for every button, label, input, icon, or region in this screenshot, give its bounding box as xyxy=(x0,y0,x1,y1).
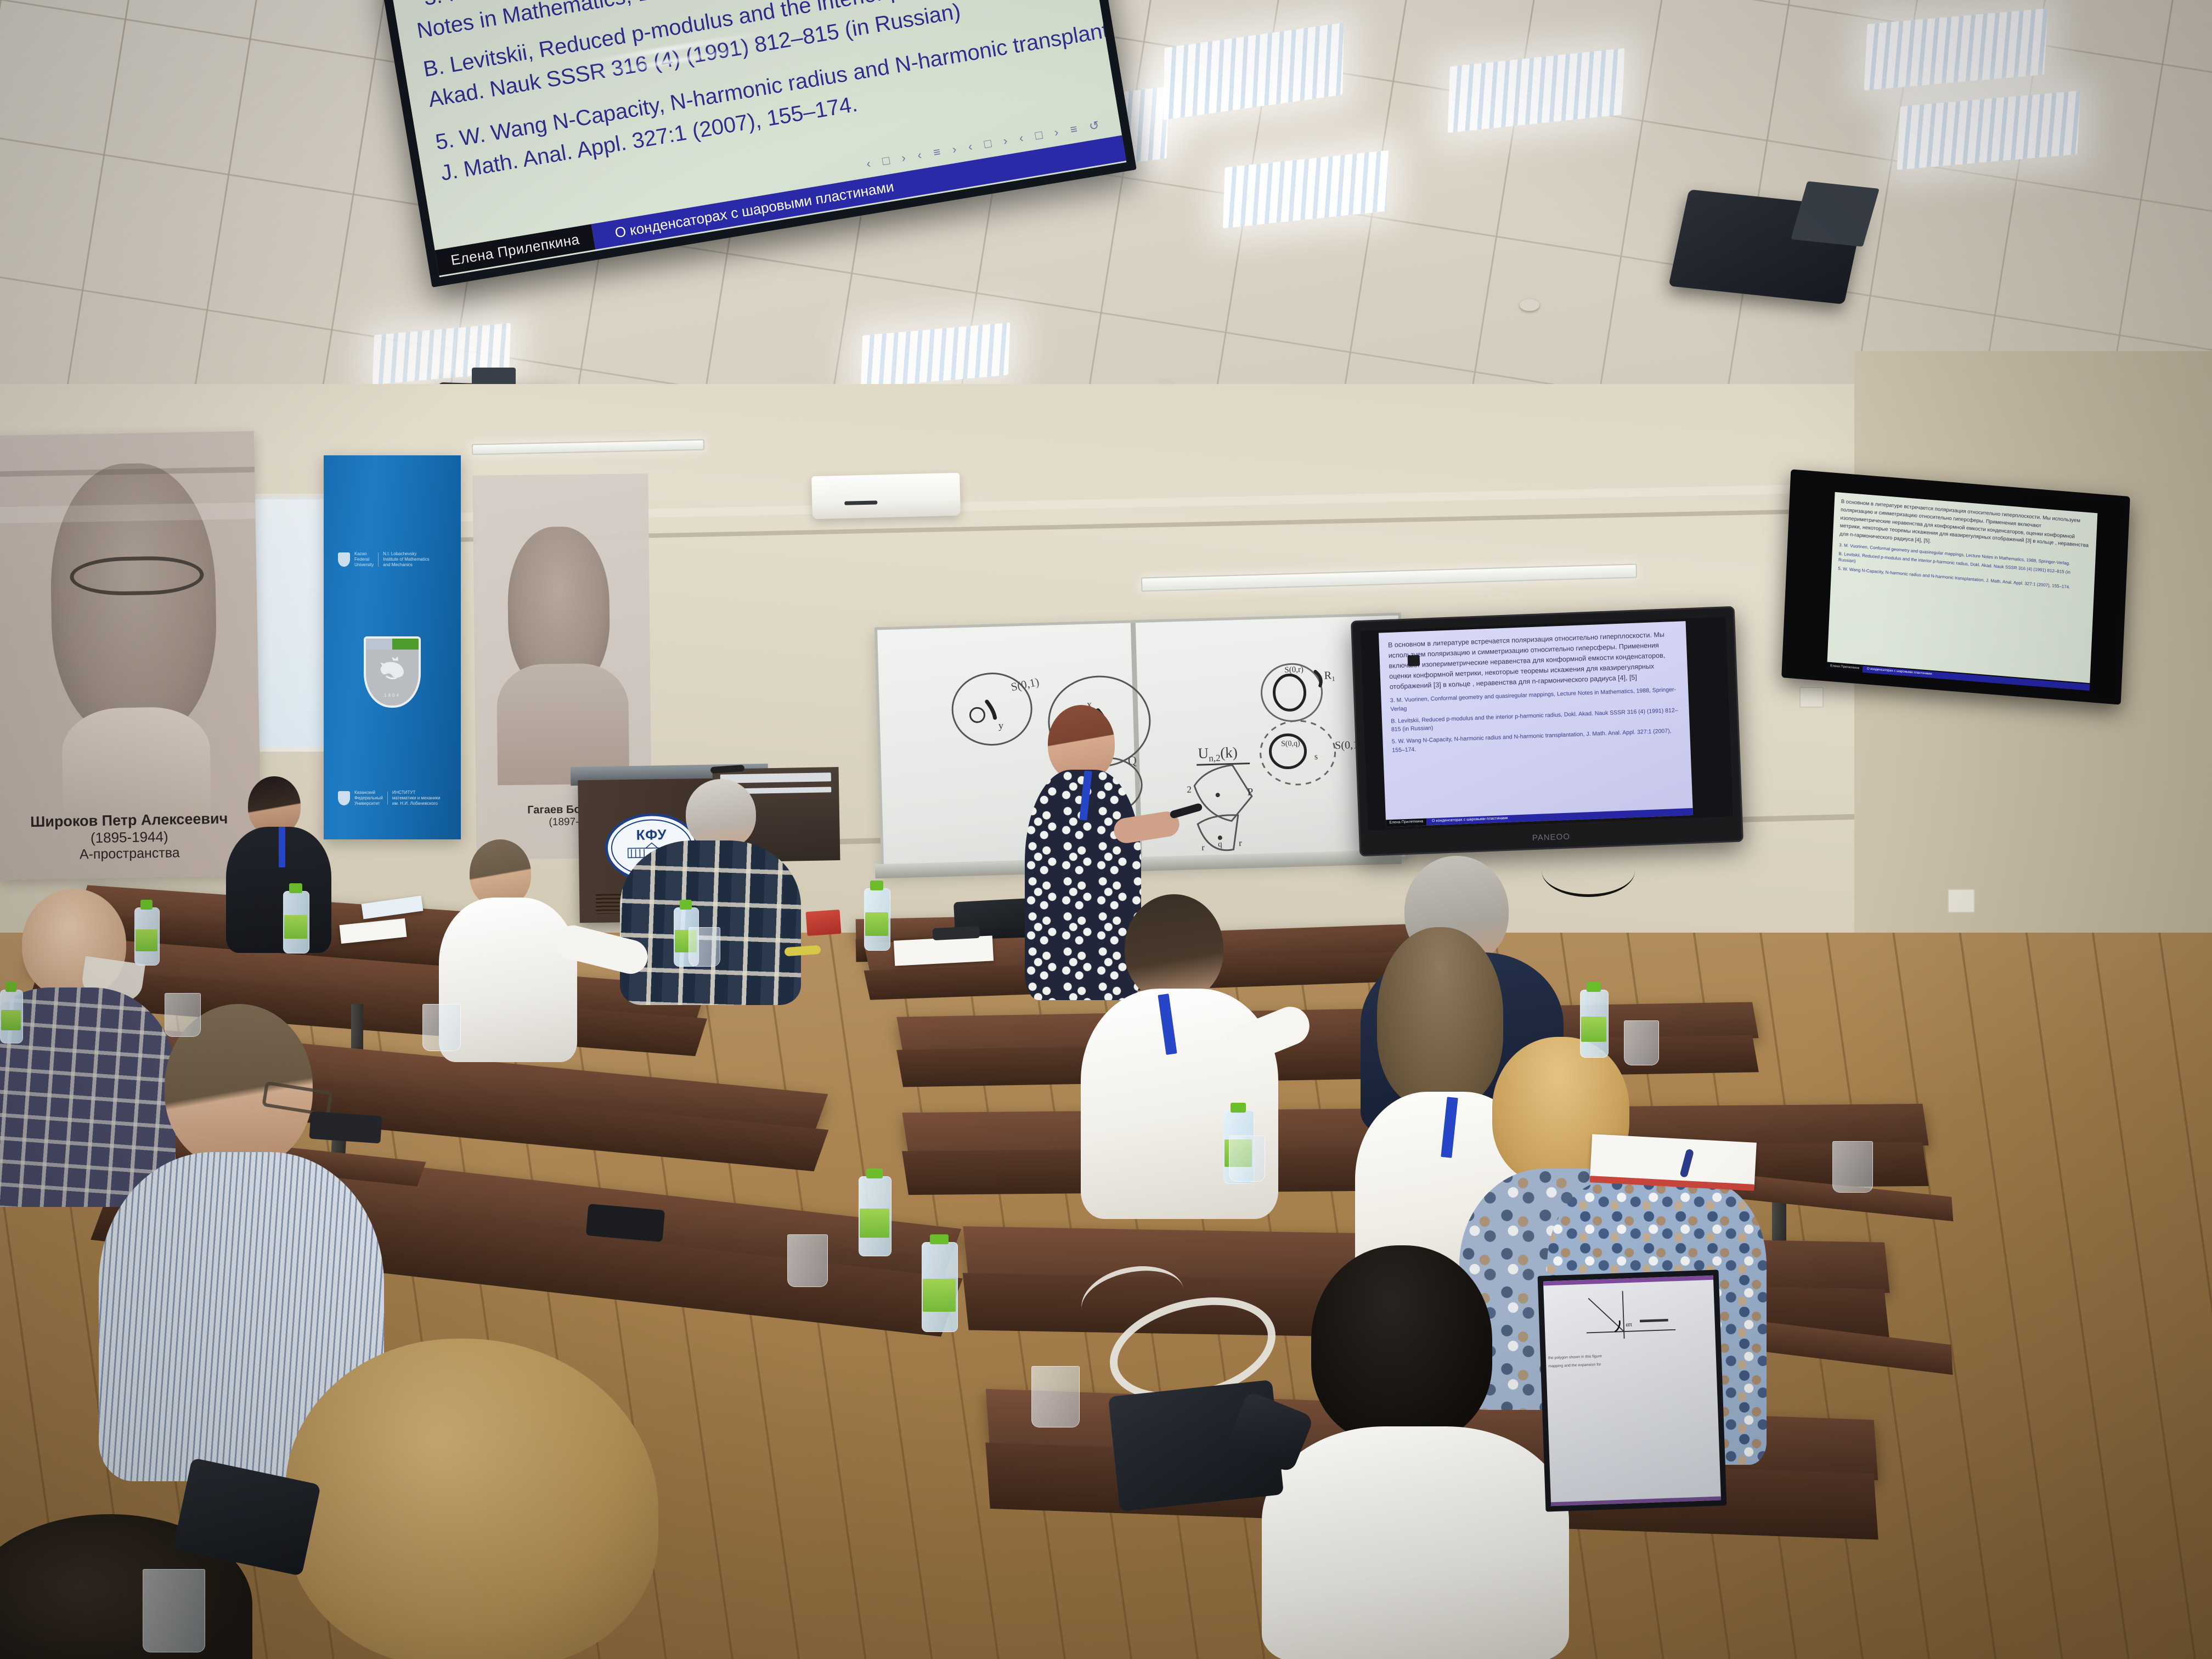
svg-text:S(0,1): S(0,1) xyxy=(1009,675,1040,693)
svg-text:P: P xyxy=(1247,786,1253,798)
banner-org-bottom: Казанский Федеральный Университет xyxy=(354,790,383,806)
banner-shield-icon-bottom xyxy=(338,791,350,805)
bottle-3-cap xyxy=(870,881,883,890)
bottle-4-label xyxy=(1581,1017,1606,1042)
banner-logo-bottom: Казанский Федеральный Университет ИНСТИТ… xyxy=(338,790,440,806)
laptop-angle-label: απ xyxy=(1626,1321,1632,1328)
bottle-7-label xyxy=(923,1279,956,1312)
bottle-2-cap xyxy=(680,900,692,910)
plastic-cup-1[interactable] xyxy=(165,993,201,1037)
bottle-9-label xyxy=(1,1010,21,1030)
water-bottle-8[interactable] xyxy=(134,900,159,964)
banner-shield-icon xyxy=(338,552,350,567)
plastic-cup-2[interactable] xyxy=(422,1004,461,1051)
rack-slot-1 xyxy=(720,772,831,783)
bottle-9-cap xyxy=(5,982,17,992)
svg-text:S(0,q): S(0,q) xyxy=(1281,740,1300,748)
plastic-cup-5[interactable] xyxy=(1624,1020,1659,1065)
wall-tv-footer-speaker: Елена Прилепкина xyxy=(1386,818,1426,827)
banner-unit-top: N.I. Lobachevsky Institute of Mathematic… xyxy=(383,551,429,568)
laptop-user-head xyxy=(1311,1245,1492,1443)
plastic-cup-8[interactable] xyxy=(1031,1366,1080,1427)
plastic-cup-3[interactable] xyxy=(689,927,720,967)
bottle-4-cap xyxy=(1587,982,1601,992)
laptop-screen: απ the polygon shown in this figure mapp… xyxy=(1543,1276,1721,1506)
wall-tv-slide: В основном в литературе встречается поля… xyxy=(1379,622,1693,827)
bottle-5-cap xyxy=(1231,1103,1246,1113)
laptop-user-torso xyxy=(1262,1426,1569,1659)
remote-on-desk[interactable] xyxy=(932,926,980,940)
svg-text:q: q xyxy=(1218,840,1222,849)
svg-text:S(0,r): S(0,r) xyxy=(1284,665,1304,675)
laptop[interactable]: απ the polygon shown in this figure mapp… xyxy=(1538,1269,1727,1511)
notebook[interactable] xyxy=(1590,1134,1757,1187)
phone-on-desk[interactable] xyxy=(586,1204,665,1242)
wall-mounted-tv[interactable]: В основном в литературе встречается поля… xyxy=(1351,606,1743,857)
poster-shirokov-caption: Широков Петр Алексеевич (1895-1944) А-пр… xyxy=(0,810,262,864)
water-bottle-9[interactable] xyxy=(0,982,22,1042)
svg-text:y: y xyxy=(998,720,1004,731)
side-tv-slide: В основном в литературе встречается поля… xyxy=(1827,492,2098,683)
wall-tv-brand-label: PANEOO xyxy=(1532,832,1571,843)
wall-tv-footer-title: О конденсаторах с шаровыми пластинами xyxy=(1426,808,1693,825)
wall-tv-references: 3. M. Vuorinen, Conformal geometry and q… xyxy=(1390,686,1681,754)
side-wall-tv[interactable]: В основном в литературе встречается поля… xyxy=(1781,469,2130,704)
tablet-on-desk[interactable] xyxy=(309,1111,382,1144)
banner-unit-bottom: ИНСТИТУТ математики и механики им. Н.И. … xyxy=(392,790,441,806)
svg-text:s: s xyxy=(1314,752,1318,761)
side-tv-footer-speaker: Елена Прилепкина xyxy=(1827,663,1863,672)
pen-icon[interactable] xyxy=(1679,1148,1694,1178)
lecture-hall-photo: Широков Петр Алексеевич (1895-1944) А-пр… xyxy=(0,0,2212,1659)
white-shirt-center-head xyxy=(1125,894,1223,1002)
svg-text:r: r xyxy=(1239,838,1243,848)
crest-bar-right xyxy=(392,639,419,650)
plastic-cup-4[interactable] xyxy=(1229,1136,1265,1182)
plastic-cup-6[interactable] xyxy=(1832,1141,1873,1193)
plaid-torso xyxy=(620,840,801,1005)
wall-socket-2[interactable] xyxy=(1799,687,1824,708)
wall-tv-panel: В основном в литературе встречается поля… xyxy=(1361,617,1733,830)
smoke-detector-icon xyxy=(1520,299,1539,311)
water-bottle-3[interactable] xyxy=(864,881,889,950)
bottle-3-label xyxy=(865,912,888,936)
water-bottle-7[interactable] xyxy=(922,1234,957,1331)
banner-crest-icon: 1804 xyxy=(364,636,421,708)
panelist-left-lanyard xyxy=(279,827,285,867)
bottle-6-label xyxy=(860,1209,889,1238)
crest-bar-left xyxy=(366,639,392,650)
plaid-head xyxy=(686,779,756,849)
wall-tv-body-text: В основном в литературе встречается поля… xyxy=(1388,629,1679,692)
side-tv-panel: В основном в литературе встречается поля… xyxy=(1787,475,2125,699)
svg-text:R₁: R₁ xyxy=(1324,669,1335,682)
water-bottle-4[interactable] xyxy=(1580,982,1607,1057)
poster-streak-1 xyxy=(0,503,256,523)
red-box-on-desk[interactable] xyxy=(806,910,842,936)
wall-socket-1[interactable] xyxy=(1948,889,1975,913)
wall-tv-slide-footer: Елена Прилепкина О конденсаторах с шаров… xyxy=(1386,808,1693,826)
water-bottle-1[interactable] xyxy=(283,883,308,952)
bottle-7-cap xyxy=(930,1234,948,1244)
wall-tv-ir-sensor-icon xyxy=(1408,655,1420,667)
portrait-shirokov-collar xyxy=(61,706,211,819)
banner-org-top: Kazan Federal University xyxy=(354,551,374,568)
bottle-6-cap xyxy=(866,1169,883,1178)
bottle-1-label xyxy=(284,915,307,939)
bottle-8-label xyxy=(136,929,157,951)
crest-year: 1804 xyxy=(366,693,419,698)
svg-text:Un,2(k): Un,2(k) xyxy=(1198,744,1238,764)
svg-text:r: r xyxy=(1201,843,1205,853)
plastic-cup-9[interactable] xyxy=(143,1569,205,1652)
crest-top-bar xyxy=(366,639,419,650)
svg-text:Q: Q xyxy=(1128,753,1137,767)
plastic-cup-7[interactable] xyxy=(787,1234,828,1287)
poster-shirokov: Широков Петр Алексеевич (1895-1944) А-пр… xyxy=(0,431,262,880)
bottle-1-cap xyxy=(289,883,302,893)
banner-logo-top: Kazan Federal University N.I. Lobachevsk… xyxy=(338,551,430,568)
svg-text:2: 2 xyxy=(1187,784,1192,794)
banner-divider xyxy=(378,552,379,567)
ac-display-icon xyxy=(845,500,878,505)
bottle-8-cap xyxy=(140,900,153,910)
laptop-status-bar xyxy=(1551,1496,1721,1506)
kfu-banner: Kazan Federal University N.I. Lobachevsk… xyxy=(324,455,461,839)
water-bottle-6[interactable] xyxy=(859,1169,890,1255)
laptop-figure: απ xyxy=(1543,1280,1716,1352)
banner-divider-bottom xyxy=(387,792,388,805)
curly-hair-head xyxy=(1377,927,1503,1108)
wall-tv-cable xyxy=(1542,845,1635,897)
crest-dragon-icon xyxy=(366,650,419,692)
paper-sheet-front[interactable] xyxy=(894,935,994,966)
air-conditioner xyxy=(811,473,961,520)
